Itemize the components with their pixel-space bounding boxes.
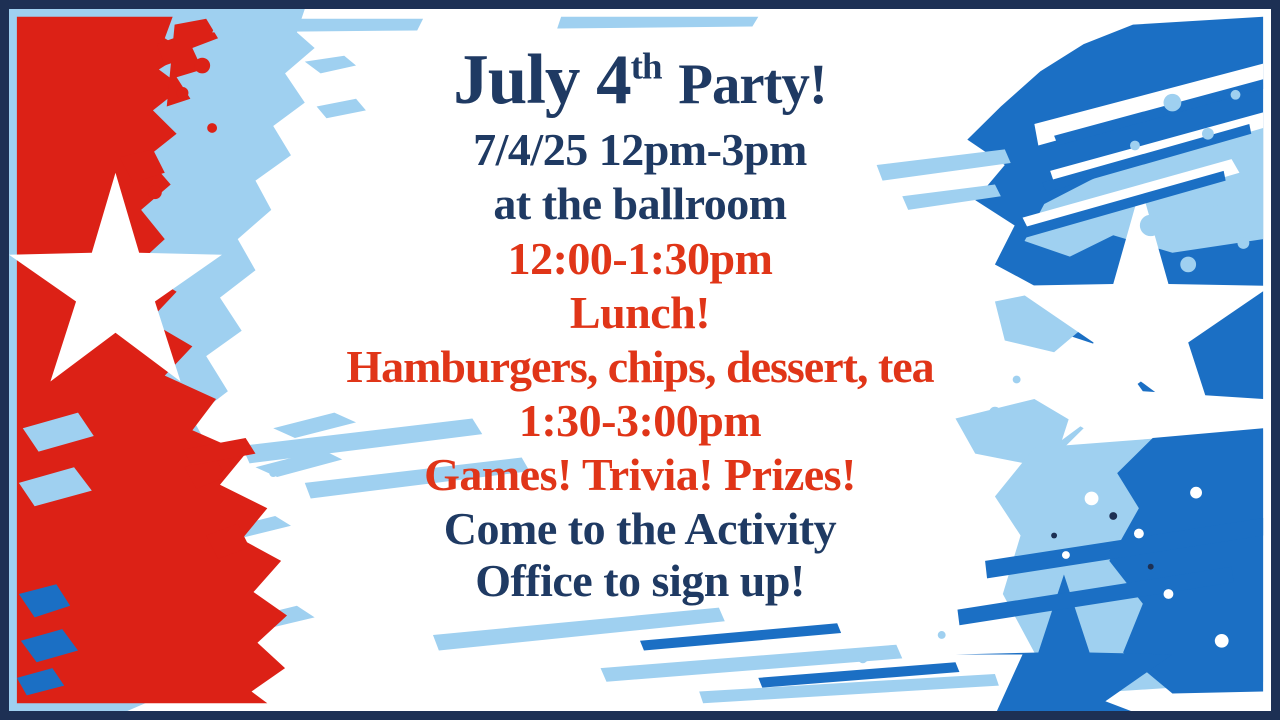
event-date-time: 7/4/25 12pm-3pm xyxy=(473,127,807,173)
games-label: Games! Trivia! Prizes! xyxy=(424,452,856,498)
lunch-menu: Hamburgers, chips, dessert, tea xyxy=(346,344,933,390)
event-venue: at the ballroom xyxy=(493,181,786,227)
title-main: July 4 xyxy=(453,41,630,119)
signup-line-1: Come to the Activity xyxy=(444,506,836,552)
signup-line-2: Office to sign up! xyxy=(475,558,805,604)
lunch-label: Lunch! xyxy=(570,290,710,336)
title-ordinal-suffix: th xyxy=(631,45,662,86)
lunch-time: 12:00-1:30pm xyxy=(508,236,773,282)
flyer-title: July 4th Party! xyxy=(453,43,827,118)
games-time: 1:30-3:00pm xyxy=(519,398,761,444)
title-tail: Party! xyxy=(678,53,827,116)
july4-party-flyer: July 4th Party! 7/4/25 12pm-3pm at the b… xyxy=(0,0,1280,720)
flyer-text-block: July 4th Party! 7/4/25 12pm-3pm at the b… xyxy=(9,9,1271,711)
